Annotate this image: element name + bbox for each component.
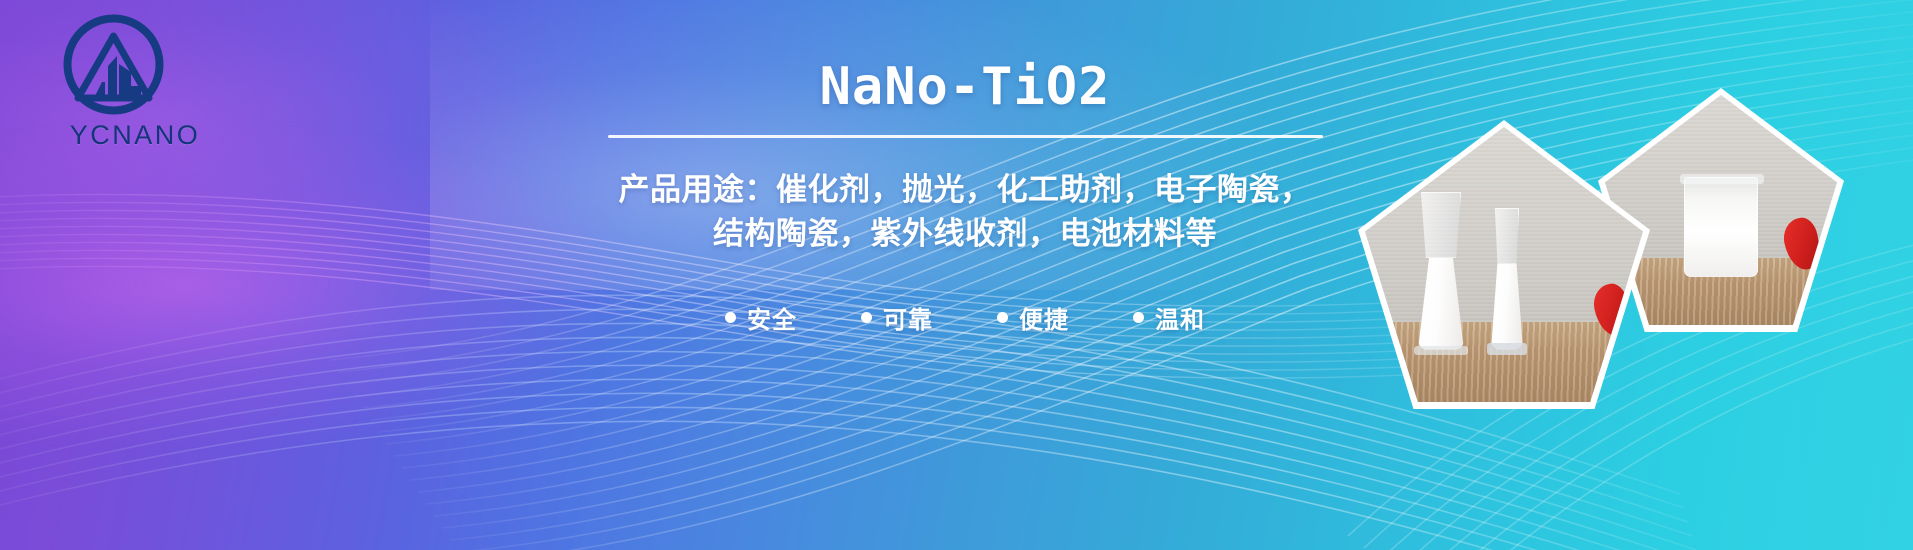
vase-neck [1421,192,1461,258]
feature-label: 安全 [747,300,797,335]
feature-item-safe: 安全 [725,300,797,335]
dot-icon [725,312,736,323]
ycnano-triangle-logo-icon [61,12,166,117]
brand-logo[interactable]: YCNANO [45,12,225,152]
dot-icon [997,312,1008,323]
feature-label: 可靠 [883,300,933,335]
feature-item-convenient: 便捷 [997,300,1069,335]
product-banner: YCNANO NaNo-TiO2 产品用途：催化剂，抛光，化工助剂，电子陶瓷， … [0,0,1913,550]
beaker-with-white-liquid [1684,177,1758,277]
dot-icon [1133,312,1144,323]
beaker-scene [1605,95,1837,325]
feature-label: 便捷 [1019,300,1069,335]
usage-line-1: 产品用途：催化剂，抛光，化工助剂，电子陶瓷， [470,168,1460,212]
white-vases-photo[interactable] [1365,127,1643,402]
product-title: NaNo-TiO2 [470,60,1460,115]
vase-base [1414,346,1468,355]
product-usage-text: 产品用途：催化剂，抛光，化工助剂，电子陶瓷， 结构陶瓷，紫外线收剂，电池材料等 [470,168,1460,256]
usage-line-2: 结构陶瓷，紫外线收剂，电池材料等 [470,212,1460,256]
beaker-photo[interactable] [1605,95,1837,325]
title-divider [608,135,1323,138]
banner-content: NaNo-TiO2 产品用途：催化剂，抛光，化工助剂，电子陶瓷， 结构陶瓷，紫外… [470,60,1460,335]
vase-base [1487,343,1527,355]
vase-neck [1495,208,1519,264]
feature-item-reliable: 可靠 [861,300,933,335]
feature-item-mild: 温和 [1133,300,1205,335]
brand-wordmark: YCNANO [45,120,225,151]
dot-icon [861,312,872,323]
vases-scene [1365,127,1643,402]
feature-list: 安全 可靠 便捷 温和 [470,300,1460,335]
product-photo-group [1355,55,1913,455]
feature-label: 温和 [1155,300,1205,335]
